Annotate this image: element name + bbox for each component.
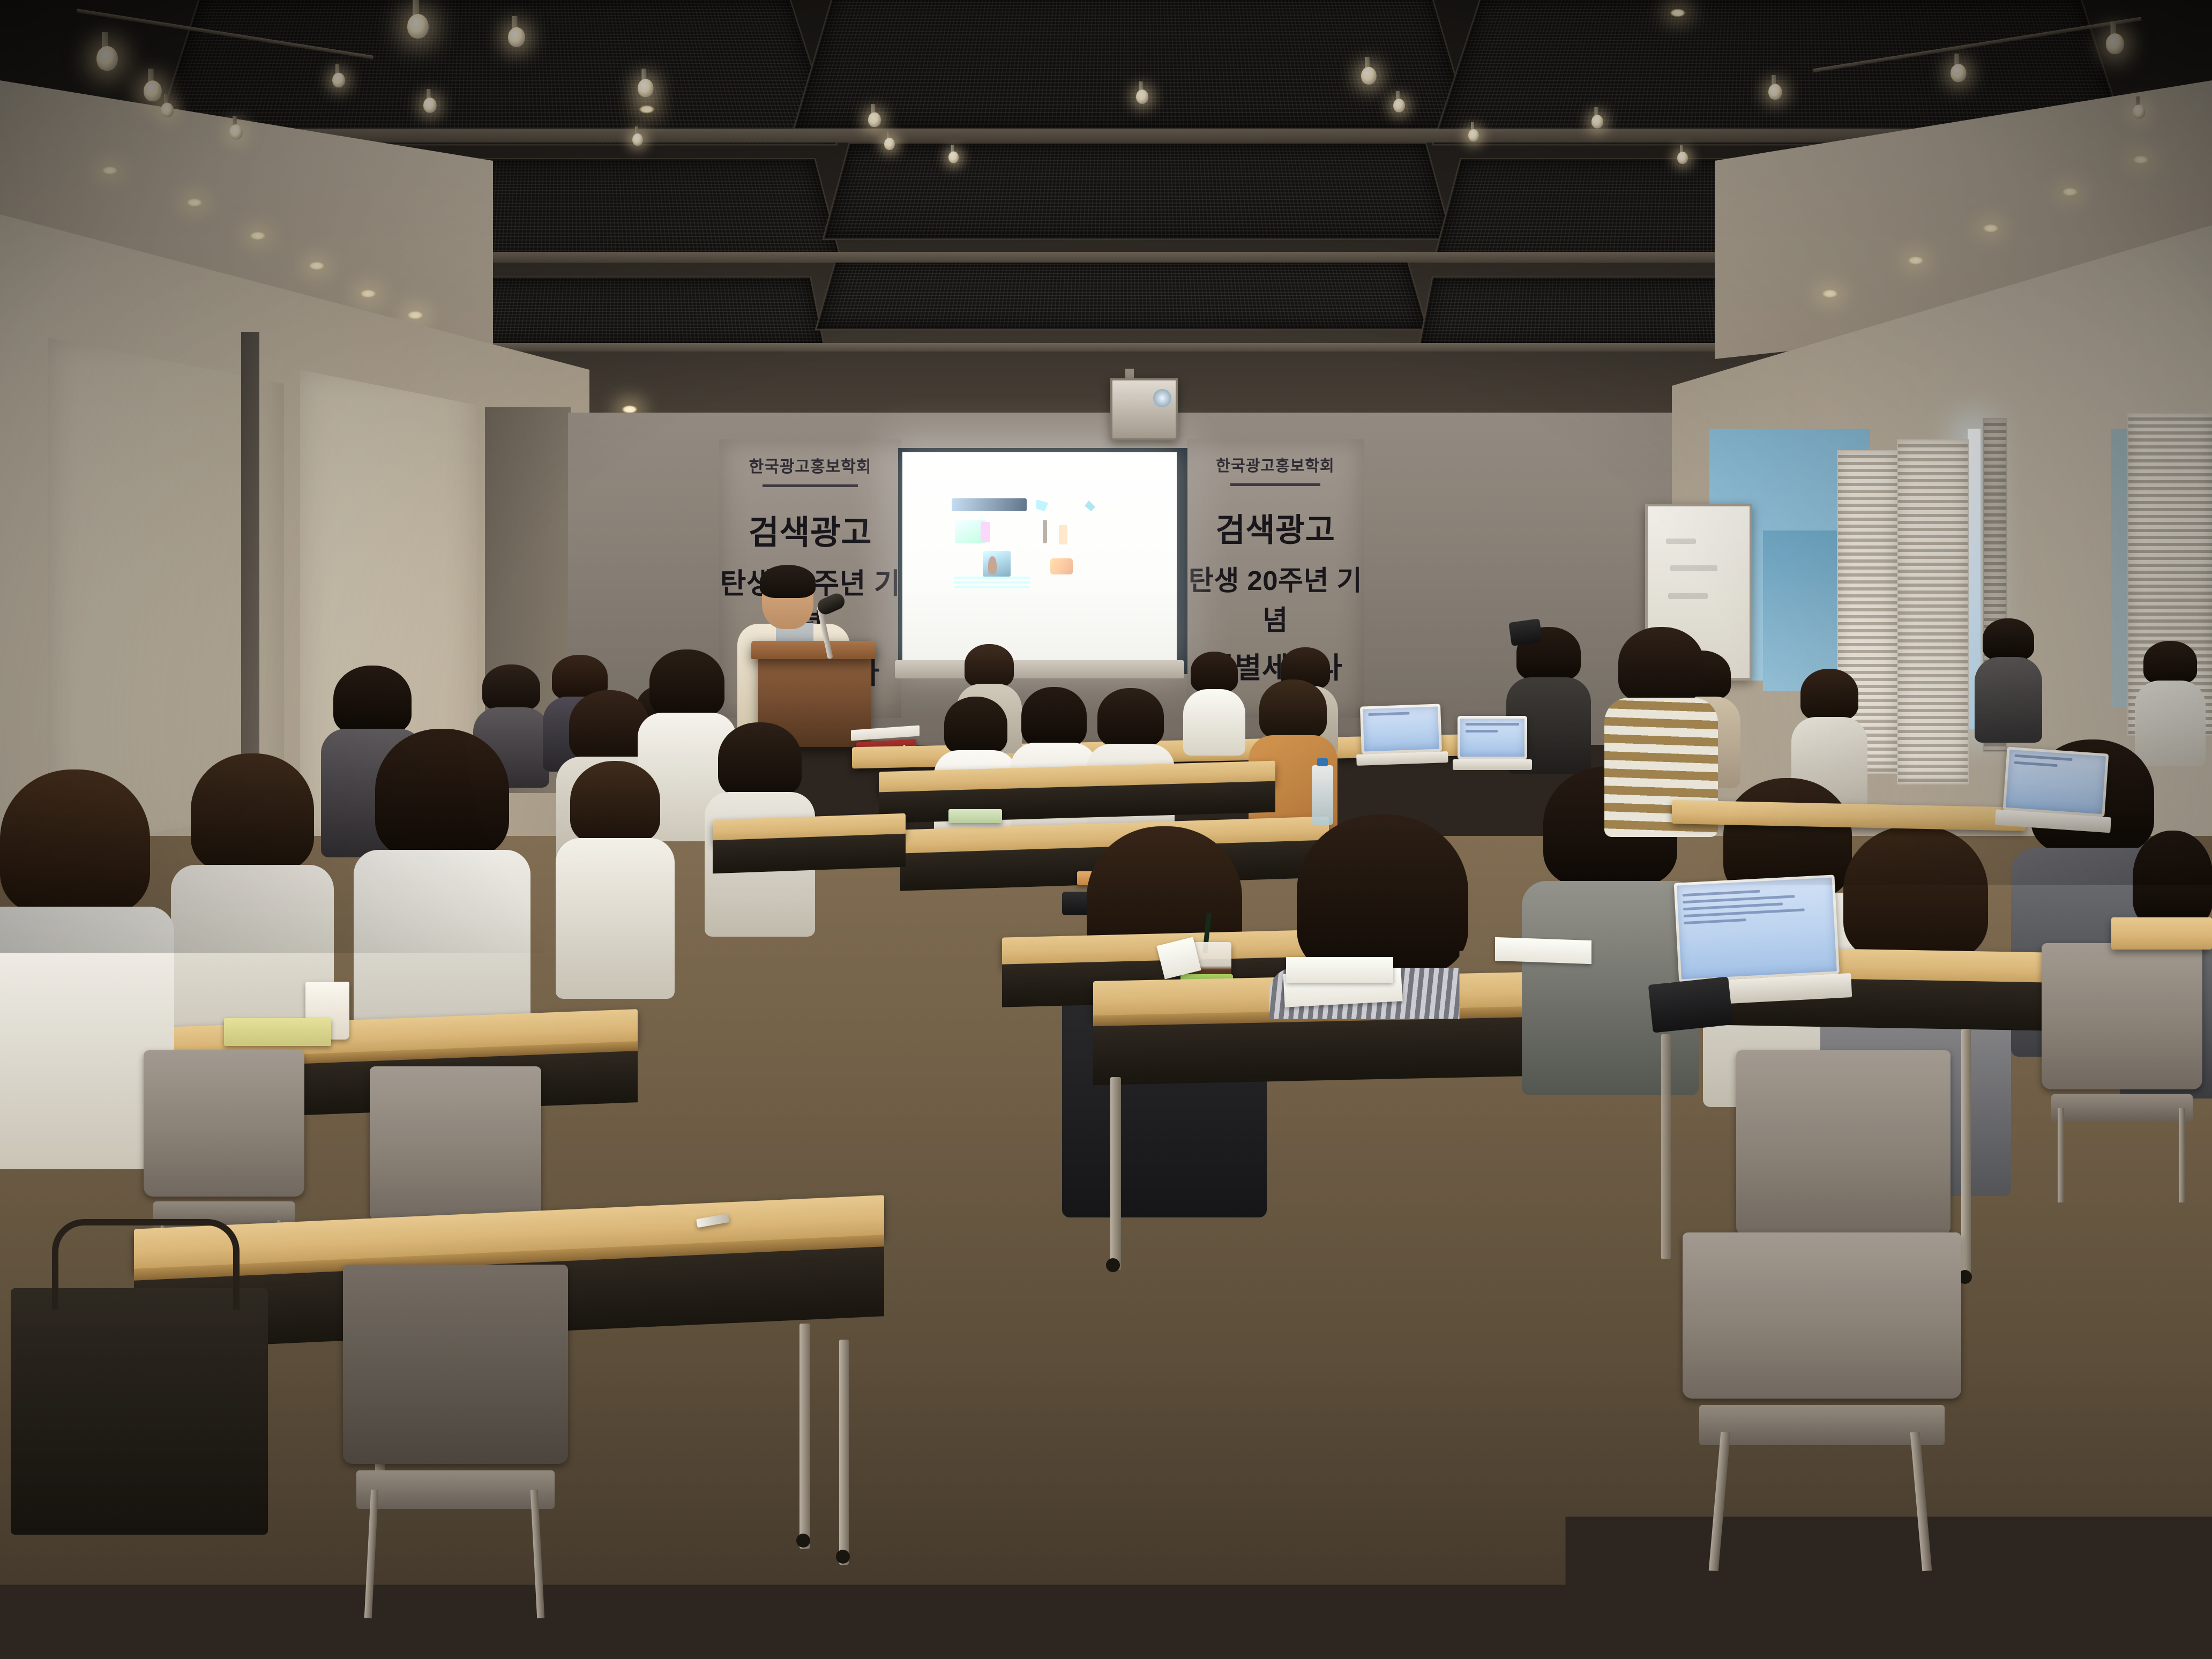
chair-seat [1315,1503,1579,1543]
recessed-downlight [1983,224,1999,233]
recessed-downlight [186,198,203,207]
attendee [649,649,724,810]
projector-lens [1153,389,1171,407]
chair-back [2042,943,2202,1089]
attendee-hair [1097,688,1164,747]
chair-leg [2179,1108,2185,1202]
banner-left-line1: 검색광고 [719,505,901,554]
chair-leg [1709,1432,1731,1572]
tablet[interactable] [1648,976,1733,1033]
attendee-hair [1800,669,1858,720]
chair[interactable] [343,1265,568,1586]
recessed-downlight [250,231,266,240]
window-blinds[interactable] [1897,439,1969,784]
attendee [718,722,802,905]
slide-graphic [1043,520,1047,543]
attendee-hair [965,644,1014,687]
attendee-hair [1618,627,1704,702]
attendee [1800,669,1858,781]
attendee-hair [1191,652,1238,692]
recessed-downlight [1822,289,1838,298]
laptop-lid [1458,716,1527,759]
attendee-hair [0,769,150,914]
recessed-downlight [1670,9,1686,17]
chair[interactable] [2042,943,2202,1179]
laptop-base [1453,759,1532,770]
ceiling-mesh-panel [793,0,1472,130]
notebook [948,809,1002,823]
table-leg [1661,1034,1671,1259]
attendee-hair [2133,831,2212,927]
chair-back [1265,1040,1554,1279]
chair-leg [1910,1432,1932,1572]
projection-screen-casing [895,660,1184,678]
banner-right-organization: 한국광고홍보학회 [1187,453,1364,476]
chair-seat [356,1470,555,1509]
attendee [570,761,660,965]
handout-papers [1286,957,1393,983]
attendee-hair [718,722,802,797]
attendee [1618,627,1704,804]
podium-top-surface [751,641,876,659]
table-leg [839,1340,849,1565]
recessed-downlight [102,166,118,175]
table-caster [836,1550,850,1564]
ceiling-projector [1110,378,1178,440]
banner-right-line1: 검색광고 [1187,504,1364,551]
laptop-lid [1674,875,1840,982]
laptop[interactable] [1360,704,1443,771]
laptop-display [1363,707,1439,752]
chair[interactable] [1683,1232,1961,1565]
table-leg [799,1324,810,1549]
laptop-lid [1360,704,1442,754]
handout-papers [1495,937,1591,964]
bottle-cap [1317,758,1327,767]
attendee-hair [482,664,540,711]
ceiling-beam [375,343,1854,352]
recessed-downlight [1908,256,1924,265]
slide-graphic [1085,500,1095,511]
attendee-hair [191,753,314,871]
ceiling-mesh-panel [814,259,1428,330]
table-row-front-right [2111,917,2212,950]
attendee [375,729,509,1029]
recessed-downlight [639,105,655,114]
bag-handle [52,1219,240,1309]
table-leg [1961,1029,1971,1275]
ceiling-mesh-panel [822,143,1453,240]
chair-back [1297,1324,1597,1496]
slide-graphic [1036,499,1048,511]
banner-right-line2: 탄생 20주년 기념 [1187,558,1364,638]
attendee-hair [1259,679,1327,739]
slide-graphic [1050,558,1073,574]
chair-seat [1699,1405,1945,1445]
chair-back [343,1265,568,1464]
recessed-downlight [407,311,423,319]
table-caster [1106,1258,1120,1272]
laptop-display [1677,878,1837,980]
attendee-hair [649,649,724,717]
slide-graphic [954,577,1030,588]
recessed-downlight [309,261,325,270]
laptop-display [1460,719,1525,757]
chair-seat [2051,1094,2193,1123]
banner-left-rule [763,484,858,487]
slide-graphic [1059,525,1067,544]
camera-held-up [1508,618,1543,646]
attendee-hair [1983,618,2034,660]
attendee-hair [333,666,412,734]
presenter-hair [760,565,816,598]
chair-leg [1543,1529,1564,1659]
chair-back [1736,1050,1951,1236]
chair-leg [1328,1529,1350,1659]
projection-screen [902,452,1177,662]
slide-graphic [988,556,997,574]
attendee-hair [2143,641,2197,684]
laptop[interactable] [2001,747,2109,840]
yellow-notebook [224,1018,331,1046]
attendee [1983,618,2034,720]
seminar-room-photo: 한국광고홍보학회 검색광고 탄생 20주년 기념 특별세미나 한국광고홍보학회 … [0,0,2212,1659]
attendee-hair [1297,814,1468,975]
chair-back [370,1066,541,1222]
recessed-downlight [2133,155,2149,164]
recessed-downlight [360,289,376,298]
table-leg [1110,1077,1121,1270]
chair-leg [2058,1108,2064,1202]
slide-graphic [983,551,1011,577]
attendee [1191,652,1238,732]
attendee [0,769,150,1112]
banner-right-rule [1230,483,1320,486]
tote-bag [11,1288,268,1535]
attendee-hair [570,761,660,843]
banner-left-organization: 한국광고홍보학회 [719,453,901,477]
attendee-hair [1843,825,1988,960]
attendee-torso [1975,657,2043,743]
recessed-downlight [2062,188,2078,196]
attendee-hair [944,697,1007,754]
attendee-hair [1021,687,1087,747]
ceiling-beam [80,129,2143,143]
slide-graphic [981,522,990,542]
chair-back [144,1050,304,1197]
table-skirt [713,834,906,874]
chair-back [1683,1232,1961,1399]
laptop[interactable] [1458,716,1527,775]
attendee [191,753,314,1032]
laptop-lid [2003,747,2109,817]
laptop-display [2006,750,2106,814]
attendee [2143,641,2197,743]
attendee-torso [1183,689,1245,756]
slide-graphic [952,498,1027,511]
table-caster [796,1534,810,1548]
attendee-torso [556,838,675,999]
chair[interactable] [1297,1324,1597,1656]
attendee-hair [375,729,509,857]
